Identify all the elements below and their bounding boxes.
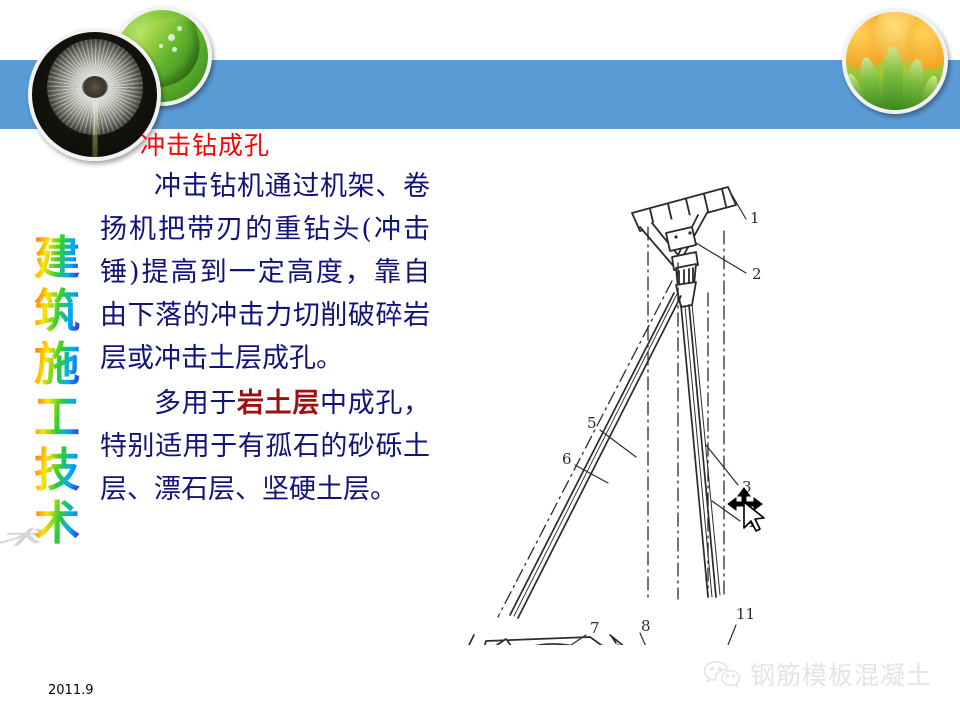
callout-2: 2: [752, 265, 762, 283]
vertical-title-char: 建: [26, 232, 88, 285]
callout-8: 8: [641, 617, 651, 635]
vertical-title-char: 筑: [26, 285, 88, 338]
paragraph-2: 多用于岩土层中成孔，特别适用于有孤石的砂砾土层、漂石层、坚硬土层。: [100, 382, 430, 511]
vertical-title: 建 筑 施 工 技 术: [26, 232, 88, 550]
slide-date: 2011.9: [48, 683, 94, 698]
body-text-column: 冲击钻机通过机架、卷扬机把带刃的重钻头(冲击锤)提高到一定高度，靠自由下落的冲击…: [100, 165, 430, 513]
percussion-rig-diagram: 1 2 3 4 5 6 7 8 9 10 11 12 13 14 15: [440, 165, 820, 645]
water-drop-icon: [177, 26, 182, 31]
dandelion-core: [82, 76, 108, 98]
vertical-title-char: 技: [26, 444, 88, 497]
tulip-photo: [842, 8, 948, 114]
callout-6: 6: [562, 450, 572, 468]
water-drop-icon: [168, 34, 175, 41]
tulip-leaf: [883, 47, 903, 114]
water-drop-icon: [172, 47, 177, 52]
callout-7: 7: [590, 619, 600, 637]
highlight-term: 岩土层: [237, 388, 320, 419]
callout-5: 5: [587, 414, 597, 432]
section-heading: 冲击钻成孔: [140, 126, 270, 162]
vertical-title-char: 术: [26, 497, 88, 550]
vertical-title-char: 工: [26, 391, 88, 444]
callout-1: 1: [750, 209, 760, 227]
move-cursor: [726, 484, 782, 540]
watermark-text: 钢筋模板混凝土: [750, 656, 932, 692]
callout-11: 11: [736, 605, 755, 623]
vertical-title-char: 施: [26, 338, 88, 391]
slide-canvas: 术 建 筑 施 工 技 术 冲击钻成孔 冲击钻机通过机架、卷扬机把带刃的重钻头(…: [0, 0, 960, 720]
paragraph-2-lead: 多用于: [154, 388, 237, 419]
wechat-icon: [703, 659, 741, 689]
paragraph-1: 冲击钻机通过机架、卷扬机把带刃的重钻头(冲击锤)提高到一定高度，靠自由下落的冲击…: [100, 165, 430, 380]
watermark: 钢筋模板混凝土: [703, 656, 932, 692]
